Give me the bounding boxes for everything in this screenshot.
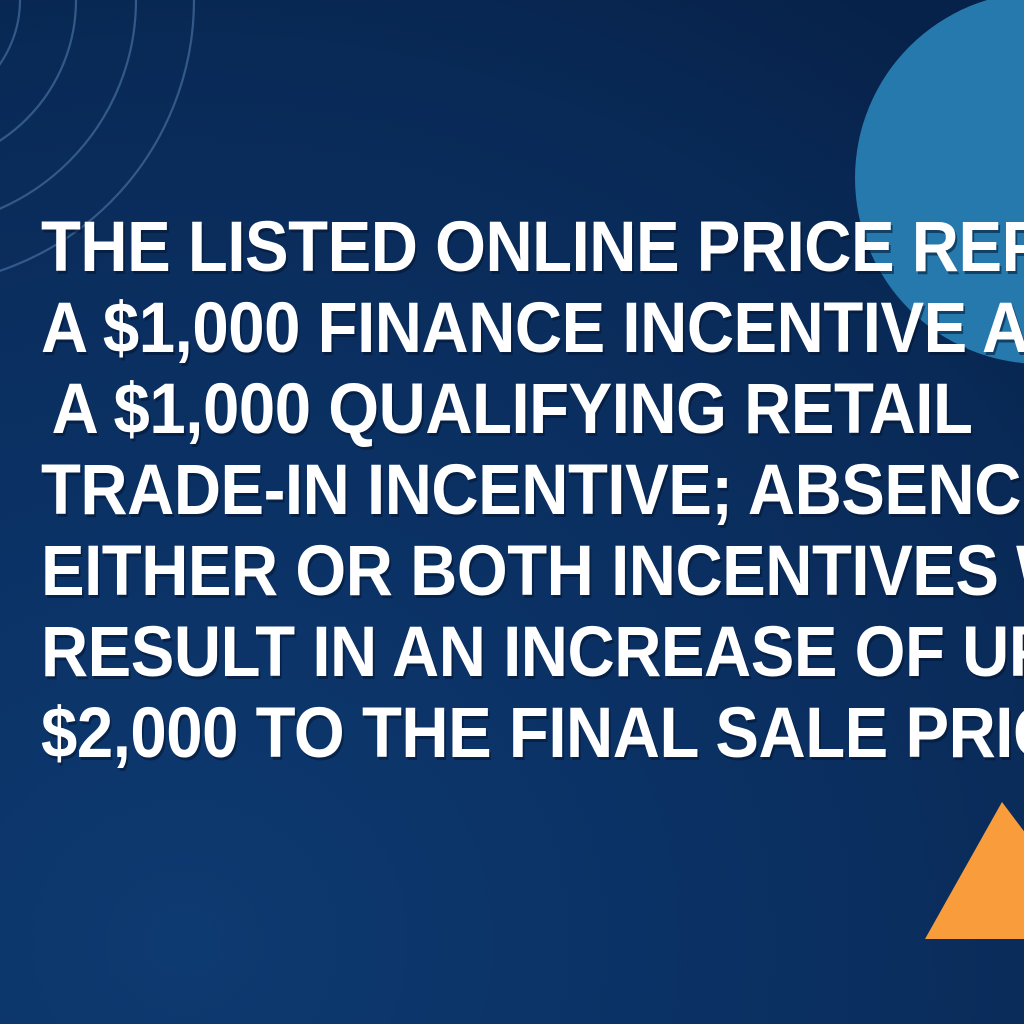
- headline-line-1: THE LISTED ONLINE PRICE REFLECTS: [41, 207, 983, 288]
- headline-line-5: EITHER OR BOTH INCENTIVES WILL: [41, 531, 983, 612]
- page-title: THE LISTED ONLINE PRICE REFLECTS A $1,00…: [41, 207, 983, 774]
- orange-triangle-icon: [925, 802, 1024, 939]
- headline-line-2: A $1,000 FINANCE INCENTIVE AND: [41, 288, 983, 369]
- headline-line-4: TRADE-IN INCENTIVE; ABSENCE OF: [41, 450, 983, 531]
- headline-line-7: $2,000 TO THE FINAL SALE PRICE.: [41, 693, 983, 774]
- headline-line-6: RESULT IN AN INCREASE OF UP TO: [41, 612, 983, 693]
- promo-graphic-canvas: THE LISTED ONLINE PRICE REFLECTS A $1,00…: [0, 0, 1024, 1024]
- headline-line-3: A $1,000 QUALIFYING RETAIL: [41, 369, 983, 450]
